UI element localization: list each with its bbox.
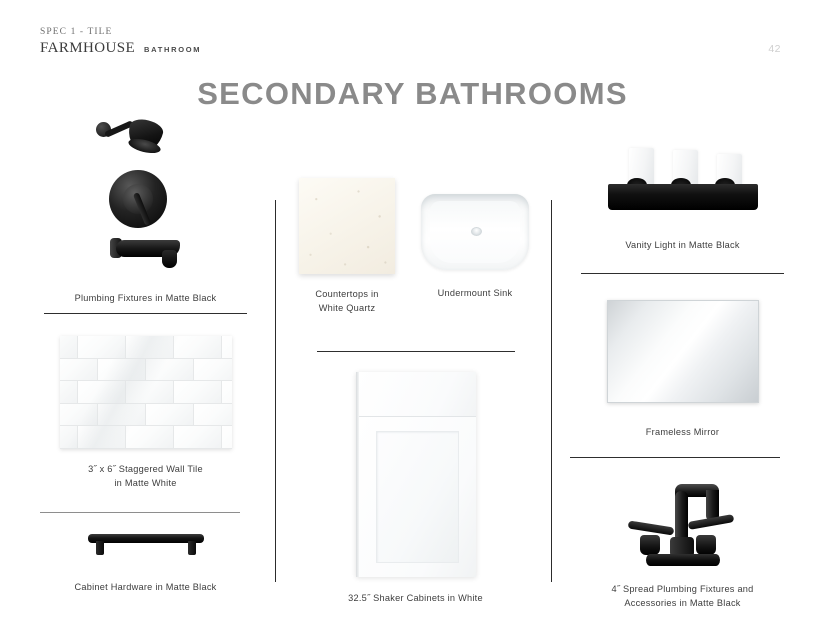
item-plumbing-fixtures[interactable]: Plumbing Fixtures in Matte Black <box>44 112 247 305</box>
board-header: SPEC 1 - TILE FARMHOUSE BATHROOM <box>40 26 340 57</box>
shower-fixture-icon <box>86 112 206 277</box>
mirror-icon <box>607 300 759 403</box>
undermount-sink-icon <box>421 194 529 270</box>
caption-plumbing-fixtures: Plumbing Fixtures in Matte Black <box>44 291 247 305</box>
caption-line: Frameless Mirror <box>581 425 784 439</box>
item-vanity-light[interactable]: Vanity Light in Matte Black <box>581 148 784 252</box>
cabinet-pull-icon <box>88 528 204 558</box>
divider-left-2 <box>40 512 240 513</box>
item-countertops[interactable]: Countertops in White Quartz <box>297 178 397 315</box>
caption-line: 32.5˝ Shaker Cabinets in White <box>313 591 518 605</box>
quartz-slab-icon <box>299 178 395 274</box>
caption-shaker-cabinets: 32.5˝ Shaker Cabinets in White <box>313 591 518 605</box>
caption-line: 3˝ x 6˝ Staggered Wall Tile <box>44 462 247 476</box>
caption-line: in Matte White <box>44 476 247 490</box>
caption-line: Undermount Sink <box>419 286 531 300</box>
lav-faucet-icon <box>624 476 742 566</box>
shaker-cabinet-icon <box>356 372 476 577</box>
divider-middle-1 <box>317 351 515 352</box>
item-frameless-mirror[interactable]: Frameless Mirror <box>581 300 784 439</box>
divider-right-2 <box>570 457 780 458</box>
caption-undermount-sink: Undermount Sink <box>419 286 531 300</box>
caption-lav-faucet: 4˝ Spread Plumbing Fixtures and Accessor… <box>581 582 784 610</box>
divider-left-1 <box>44 313 247 314</box>
caption-line: Accessories in Matte Black <box>581 596 784 610</box>
caption-vanity-light: Vanity Light in Matte Black <box>581 238 784 252</box>
caption-line: Vanity Light in Matte Black <box>581 238 784 252</box>
divider-right-1 <box>581 273 784 274</box>
caption-line: 4˝ Spread Plumbing Fixtures and <box>581 582 784 596</box>
caption-cabinet-hardware: Cabinet Hardware in Matte Black <box>44 580 247 594</box>
subway-tile-icon <box>60 336 232 449</box>
item-lav-faucet[interactable]: 4˝ Spread Plumbing Fixtures and Accessor… <box>581 476 784 610</box>
item-cabinet-hardware[interactable]: Cabinet Hardware in Matte Black <box>44 528 247 594</box>
caption-wall-tile: 3˝ x 6˝ Staggered Wall Tile in Matte Whi… <box>44 462 247 490</box>
brand-row: FARMHOUSE BATHROOM <box>40 40 340 57</box>
caption-frameless-mirror: Frameless Mirror <box>581 425 784 439</box>
column-divider-right <box>551 200 552 582</box>
caption-line: Cabinet Hardware in Matte Black <box>44 580 247 594</box>
brand-name: FARMHOUSE <box>40 40 135 57</box>
item-wall-tile[interactable]: 3˝ x 6˝ Staggered Wall Tile in Matte Whi… <box>44 336 247 490</box>
vanity-light-icon <box>608 148 758 218</box>
spec-board-page: SPEC 1 - TILE FARMHOUSE BATHROOM 42 SECO… <box>0 0 825 638</box>
column-divider-left <box>275 200 276 582</box>
caption-line: Plumbing Fixtures in Matte Black <box>44 291 247 305</box>
caption-line: White Quartz <box>297 301 397 315</box>
item-undermount-sink[interactable]: Undermount Sink <box>419 194 531 300</box>
brand-subtitle: BATHROOM <box>144 43 201 57</box>
page-number: 42 <box>768 43 781 55</box>
caption-line: Countertops in <box>297 287 397 301</box>
spec-label: SPEC 1 - TILE <box>40 26 340 39</box>
item-shaker-cabinets[interactable]: 32.5˝ Shaker Cabinets in White <box>313 372 518 605</box>
page-title: SECONDARY BATHROOMS <box>0 76 825 112</box>
caption-countertops: Countertops in White Quartz <box>297 287 397 315</box>
